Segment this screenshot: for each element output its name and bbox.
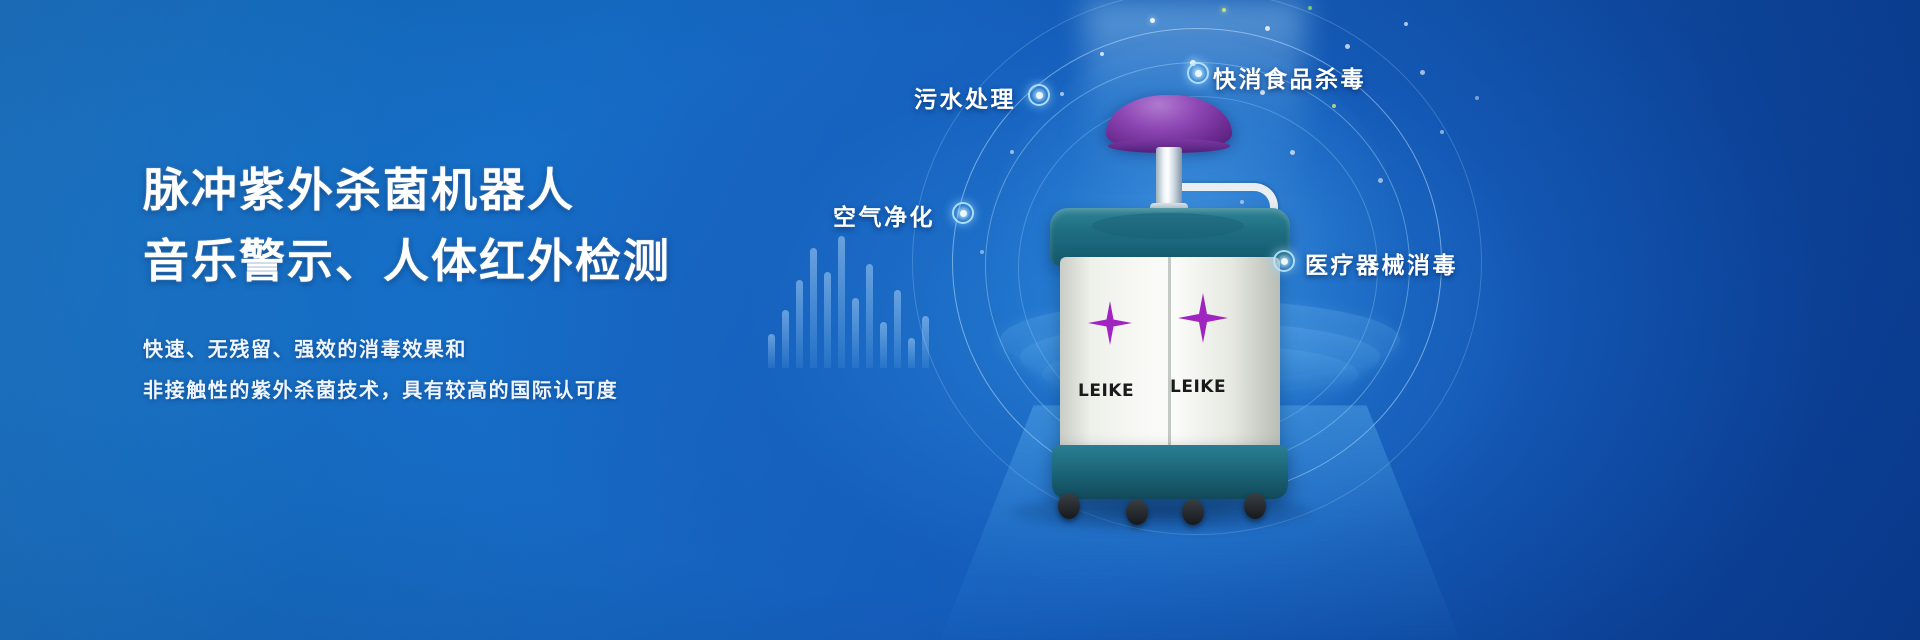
robot-wheel	[1058, 493, 1080, 519]
sparkle-particle	[1345, 44, 1350, 49]
robot-wheel	[1244, 493, 1266, 519]
page-title-line1: 脉冲紫外杀菌机器人	[143, 158, 863, 223]
sparkle-particle	[1308, 6, 1312, 10]
robot-wheel	[1126, 499, 1148, 525]
robot-top-cap-recess	[1092, 213, 1244, 239]
uv-disinfection-robot: LEIKE LEIKE	[1030, 95, 1300, 515]
sparkle-particle	[1010, 150, 1014, 154]
callout-node-air-purification[interactable]	[952, 202, 974, 224]
page-title-line2: 音乐警示、人体红外检测	[143, 229, 863, 294]
callout-waste-water: 污水处理	[914, 80, 1016, 114]
sparkle-particle	[1100, 52, 1104, 56]
robot-base	[1052, 445, 1288, 499]
sparkle-particle	[1265, 26, 1270, 31]
sparkle-particle	[980, 250, 984, 254]
robot-body-seam	[1168, 257, 1171, 451]
sparkle-particle	[1332, 104, 1336, 108]
sparkle-particle	[1378, 178, 1383, 183]
sparkle-particle	[1404, 22, 1408, 26]
robot-wheel	[1182, 499, 1204, 525]
sparkle-particle	[1222, 8, 1226, 12]
brand-label-left: LEIKE	[1078, 381, 1134, 401]
callout-fmcg-food: 快消食品杀毒	[1213, 60, 1366, 94]
sparkle-particle	[1150, 18, 1155, 23]
brand-label-right: LEIKE	[1170, 377, 1226, 397]
callout-node-fmcg-food[interactable]	[1187, 62, 1209, 84]
banner-copy-block: 脉冲紫外杀菌机器人 音乐警示、人体红外检测 快速、无残留、强效的消毒效果和 非接…	[143, 158, 863, 412]
sparkle-particle	[1420, 70, 1425, 75]
subcopy-line1: 快速、无残留、强效的消毒效果和	[143, 329, 863, 371]
subcopy-line2: 非接触性的紫外杀菌技术，具有较高的国际认可度	[143, 370, 863, 412]
sparkle-particle	[1440, 130, 1444, 134]
callout-node-medical-device[interactable]	[1273, 250, 1295, 272]
callout-node-waste-water[interactable]	[1028, 84, 1050, 106]
sparkle-particle	[1475, 96, 1479, 100]
callout-medical-device: 医疗器械消毒	[1305, 246, 1458, 280]
uv-lamp-stem	[1156, 147, 1182, 209]
promo-banner: 脉冲紫外杀菌机器人 音乐警示、人体红外检测 快速、无残留、强效的消毒效果和 非接…	[0, 0, 1920, 640]
